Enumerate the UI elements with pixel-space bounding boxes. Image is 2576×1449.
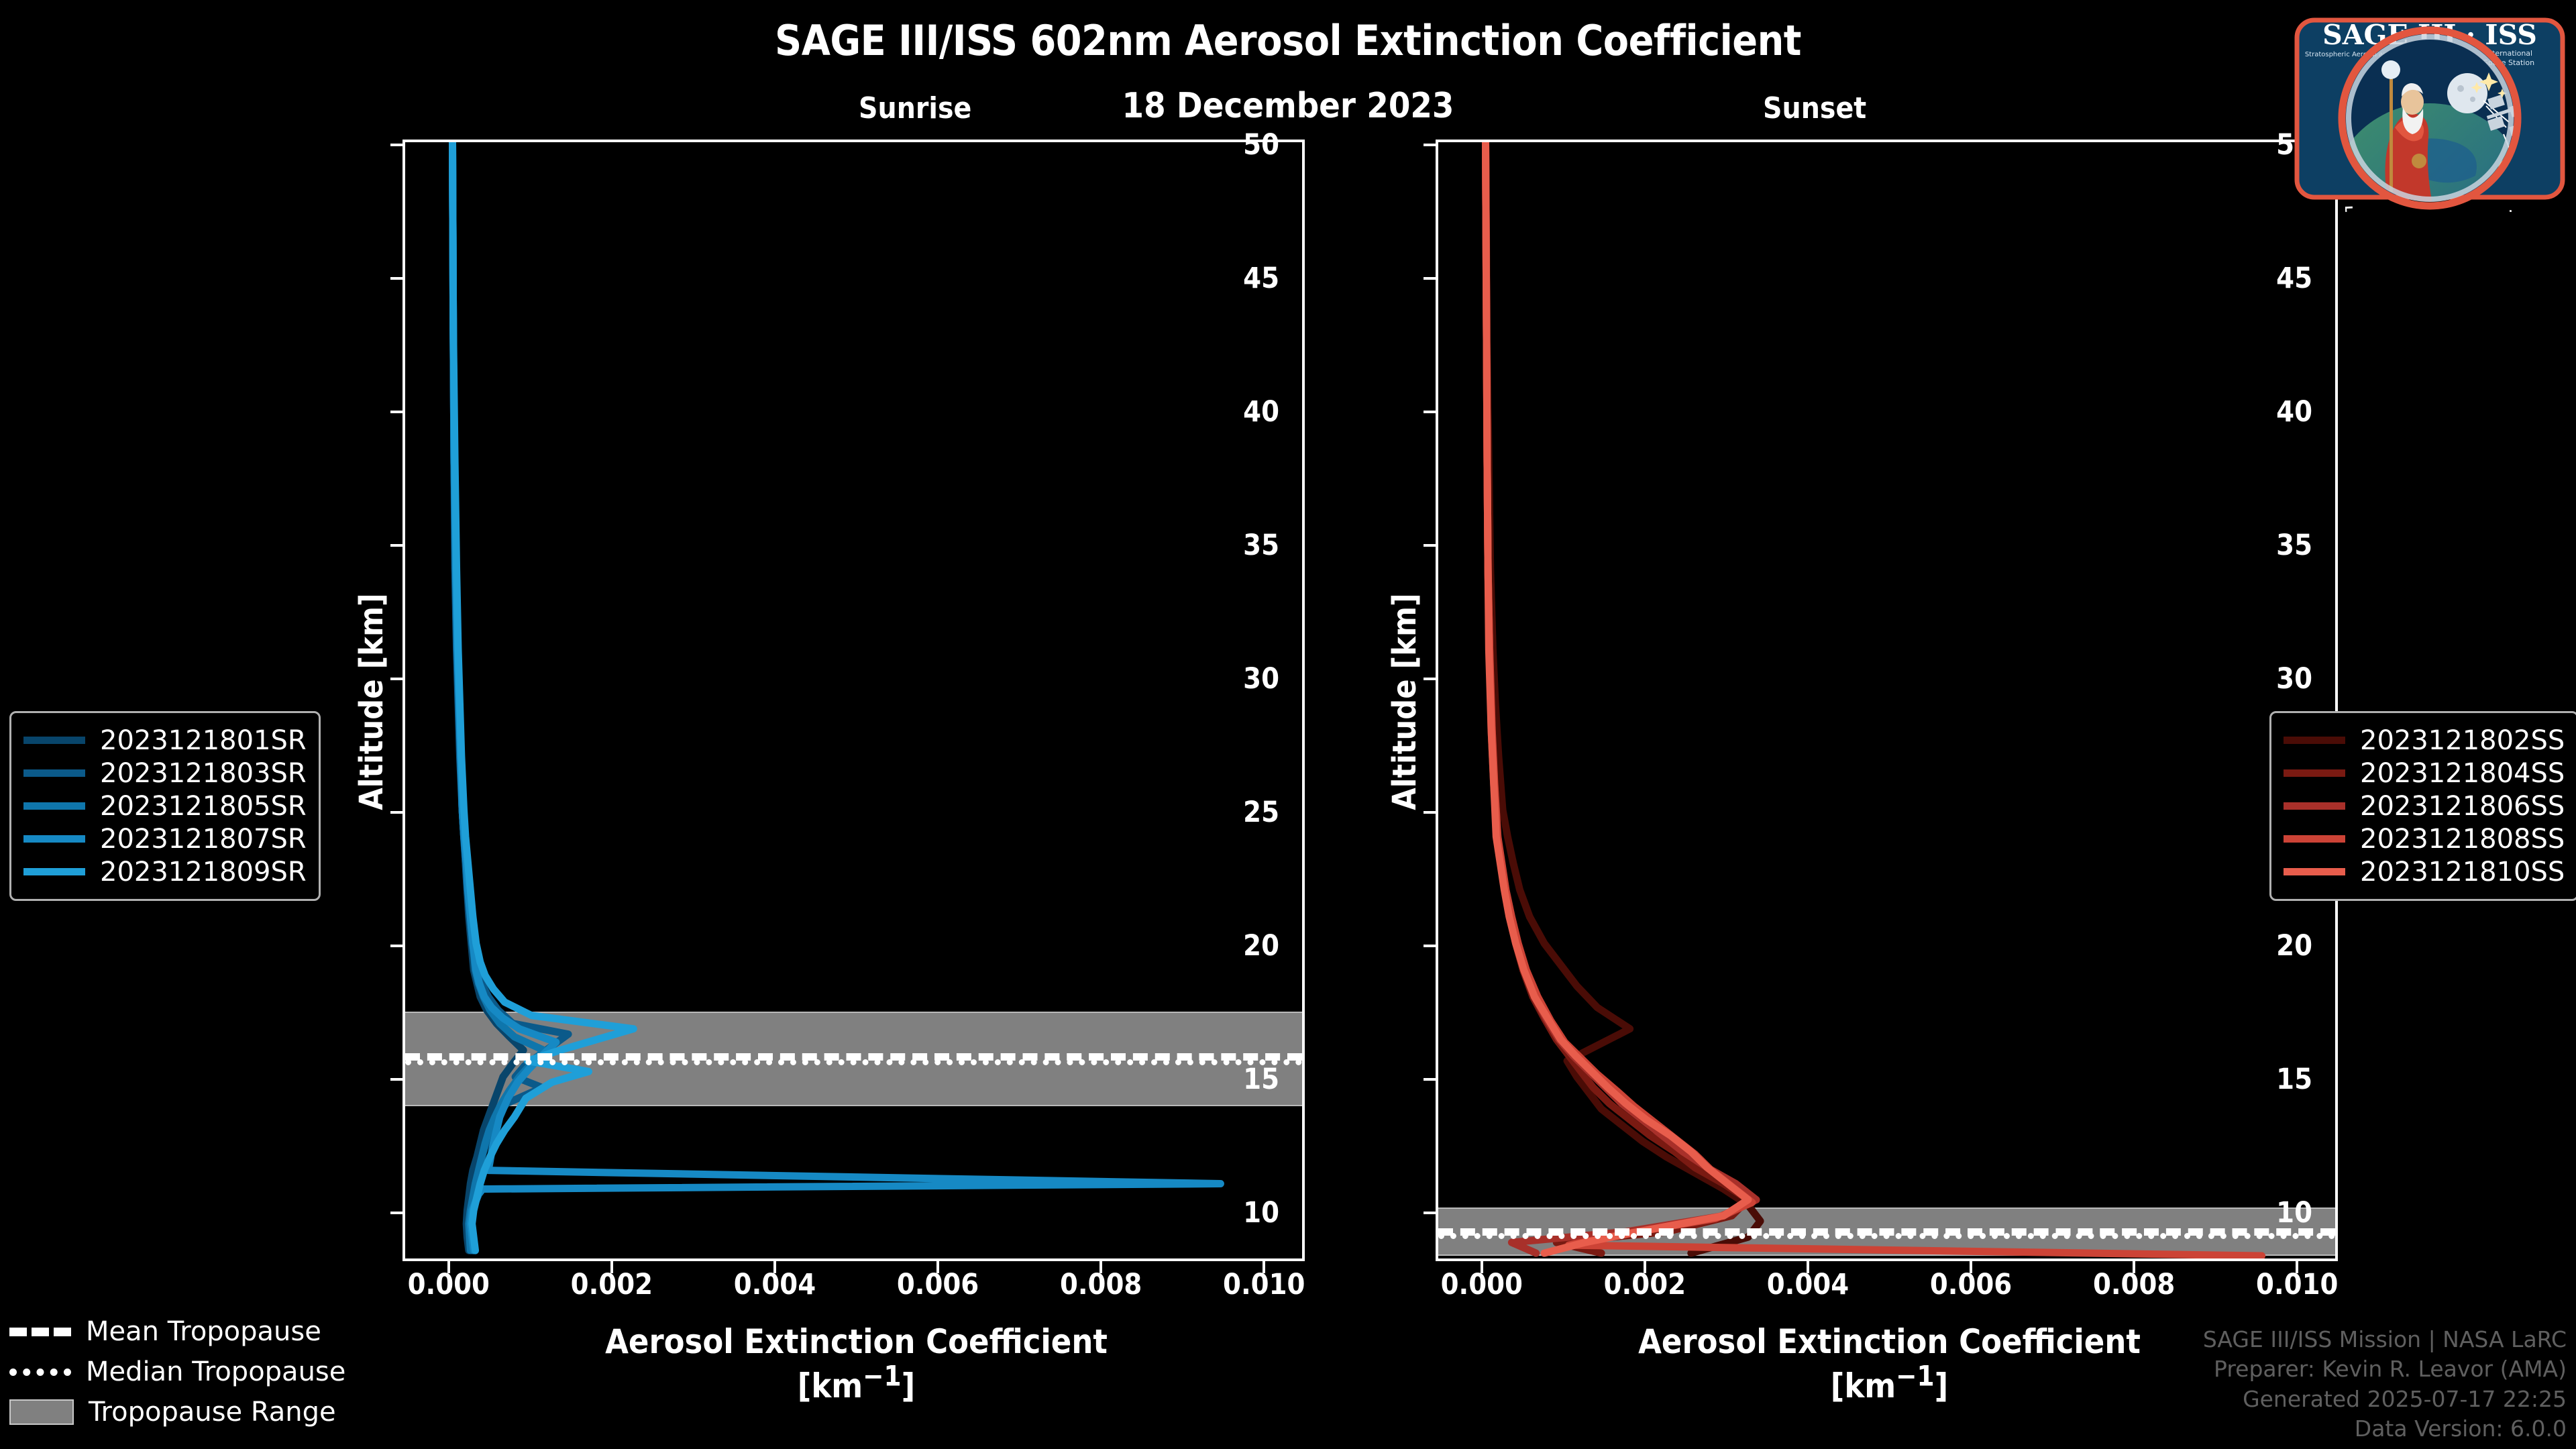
legend-item: 2023121801SR — [23, 724, 307, 757]
y-axis-tick-label: 15 — [1243, 1063, 1279, 1096]
sunrise-plot: 1015202530354045500.0000.0020.0040.0060.… — [402, 140, 1305, 1261]
legend-label: 2023121804SS — [2360, 758, 2565, 789]
legend-item: 2023121808SS — [2284, 822, 2565, 855]
legend-item: 2023121803SR — [23, 757, 307, 790]
x-axis-tick-label: 0.006 — [897, 1268, 979, 1301]
y-axis-tick — [1424, 144, 1438, 146]
y-axis-tick-label: 35 — [1243, 529, 1279, 562]
sage3-iss-mission-patch-logo: SAGE III · ISS Stratospheric Aerosol and… — [2288, 3, 2572, 215]
legend-tropopause: Mean Tropopause Median Tropopause Tropop… — [9, 1311, 345, 1432]
y-axis-tick — [390, 945, 405, 947]
y-axis-tick-label: 30 — [1243, 662, 1279, 696]
y-axis-tick-label: 50 — [1243, 128, 1279, 162]
x-axis-label-line2: [km−1] — [1831, 1366, 1948, 1405]
x-axis-tick-label: 0.004 — [734, 1268, 816, 1301]
y-axis-tick — [390, 544, 405, 547]
page-title: SAGE III/ISS 602nm Aerosol Extinction Co… — [0, 16, 2576, 65]
legend-item: 2023121810SS — [2284, 855, 2565, 888]
credit-line-generated: Generated 2025-07-17 22:25 — [2203, 1385, 2567, 1414]
y-axis-tick-label: 45 — [1243, 262, 1279, 295]
legend-label-mean: Mean Tropopause — [86, 1316, 321, 1347]
legend-sunset: 2023121802SS2023121804SS2023121806SS2023… — [2269, 711, 2576, 901]
x-axis-tick-label: 0.002 — [571, 1268, 653, 1301]
sunset-plot: 1015202530354045500.0000.0020.0040.0060.… — [1436, 140, 2338, 1261]
x-axis-tick-label: 0.010 — [1223, 1268, 1305, 1301]
legend-color-swatch — [2284, 802, 2345, 810]
x-axis-tick-label: 0.008 — [1060, 1268, 1142, 1301]
date-subtitle: 18 December 2023 — [0, 86, 2576, 126]
y-axis-label: Altitude [km] — [1386, 568, 1424, 836]
moon-icon — [2447, 73, 2487, 113]
x-axis-label-line1: Aerosol Extinction Coefficient — [1638, 1322, 2141, 1361]
legend-color-swatch — [2284, 868, 2345, 875]
sunset-plot-area — [1438, 142, 2335, 1258]
y-axis-tick — [1424, 1212, 1438, 1214]
credit-line-version: Data Version: 6.0.0 — [2203, 1414, 2567, 1444]
moon-crater-2 — [2470, 97, 2475, 102]
y-axis-tick — [1424, 1078, 1438, 1081]
x-axis-tick-label: 0.000 — [1441, 1268, 1523, 1301]
legend-label: 2023121801SR — [100, 725, 307, 756]
wizard-belt-buckle — [2412, 154, 2426, 168]
legend-item: 2023121804SS — [2284, 757, 2565, 790]
dotted-line-icon — [9, 1368, 71, 1376]
y-axis-tick — [390, 678, 405, 680]
credit-line-preparer: Preparer: Kevin R. Leavor (AMA) — [2203, 1354, 2567, 1384]
y-axis-tick — [390, 277, 405, 280]
x-axis-tick-label: 0.000 — [408, 1268, 490, 1301]
profile-line — [1486, 142, 1761, 1253]
x-axis-tick-label: 0.010 — [2256, 1268, 2338, 1301]
y-axis-tick — [1424, 811, 1438, 814]
profile-line — [453, 142, 1221, 1250]
legend-color-swatch — [23, 868, 85, 875]
median-tropopause-line — [405, 1059, 1302, 1065]
legend-item-mean-tropopause: Mean Tropopause — [9, 1311, 345, 1352]
credit-line-mission: SAGE III/ISS Mission | NASA LaRC — [2203, 1325, 2567, 1354]
legend-label-range: Tropopause Range — [89, 1397, 336, 1428]
legend-color-swatch — [2284, 769, 2345, 777]
y-axis-tick-label: 30 — [2276, 662, 2312, 696]
sunrise-panel-title: Sunrise — [859, 91, 971, 125]
legend-sunrise: 2023121801SR2023121803SR2023121805SR2023… — [9, 711, 321, 901]
y-axis-tick-label: 15 — [2276, 1063, 2312, 1096]
y-axis-tick — [1424, 678, 1438, 680]
y-axis-tick-label: 10 — [2276, 1196, 2312, 1230]
y-axis-tick — [390, 144, 405, 146]
legend-color-swatch — [23, 835, 85, 843]
y-axis-tick-label: 40 — [1243, 395, 1279, 429]
y-axis-tick — [390, 811, 405, 814]
y-axis-tick-label: 20 — [1243, 929, 1279, 963]
series-layer — [1438, 142, 2335, 1258]
y-axis-tick-label: 40 — [2276, 395, 2312, 429]
dashed-line-icon — [9, 1328, 71, 1336]
sunrise-plot-area — [405, 142, 1302, 1258]
legend-color-swatch — [23, 769, 85, 777]
legend-item: 2023121809SR — [23, 855, 307, 888]
legend-item: 2023121806SS — [2284, 790, 2565, 822]
credits: SAGE III/ISS Mission | NASA LaRC Prepare… — [2203, 1325, 2567, 1444]
legend-label: 2023121810SS — [2360, 857, 2565, 888]
y-axis-tick — [1424, 411, 1438, 413]
legend-item-median-tropopause: Median Tropopause — [9, 1352, 345, 1392]
x-axis-tick-label: 0.008 — [2093, 1268, 2175, 1301]
y-axis-tick — [390, 411, 405, 413]
legend-label: 2023121806SS — [2360, 791, 2565, 822]
legend-color-swatch — [2284, 737, 2345, 744]
y-axis-tick-label: 25 — [1243, 796, 1279, 829]
legend-item: 2023121807SR — [23, 822, 307, 855]
x-axis-label-line1: Aerosol Extinction Coefficient — [605, 1322, 1108, 1361]
staff-orb — [2381, 60, 2400, 79]
legend-item: 2023121802SS — [2284, 724, 2565, 757]
legend-label: 2023121802SS — [2360, 725, 2565, 756]
profile-line — [1486, 142, 1757, 1253]
y-axis-tick — [1424, 277, 1438, 280]
median-tropopause-line — [1438, 1233, 2335, 1239]
x-axis-label: Aerosol Extinction Coefficient[km−1] — [405, 1323, 1307, 1405]
y-axis-label: Altitude [km] — [353, 568, 390, 836]
y-axis-tick-label: 35 — [2276, 529, 2312, 562]
legend-label: 2023121803SR — [100, 758, 307, 789]
legend-item-tropopause-range: Tropopause Range — [9, 1392, 345, 1432]
x-axis-tick-label: 0.006 — [1930, 1268, 2012, 1301]
y-axis-tick — [390, 1212, 405, 1214]
legend-label: 2023121805SR — [100, 791, 307, 822]
legend-label-median: Median Tropopause — [86, 1356, 345, 1387]
legend-color-swatch — [23, 802, 85, 810]
x-axis-label-line2: [km−1] — [798, 1366, 915, 1405]
sunset-panel-title: Sunset — [1763, 91, 1866, 125]
legend-label: 2023121807SR — [100, 824, 307, 855]
moon-crater — [2457, 85, 2464, 92]
y-axis-tick — [1424, 544, 1438, 547]
legend-item: 2023121805SR — [23, 790, 307, 822]
legend-label: 2023121809SR — [100, 857, 307, 888]
y-axis-tick-label: 10 — [1243, 1196, 1279, 1230]
series-layer — [405, 142, 1302, 1258]
profile-line — [453, 142, 634, 1250]
wizard-staff — [2390, 72, 2393, 192]
y-axis-tick-label: 45 — [2276, 262, 2312, 295]
y-axis-tick-label: 20 — [2276, 929, 2312, 963]
x-axis-tick-label: 0.004 — [1767, 1268, 1849, 1301]
legend-label: 2023121808SS — [2360, 824, 2565, 855]
legend-color-swatch — [2284, 835, 2345, 843]
y-axis-tick — [1424, 945, 1438, 947]
y-axis-tick — [390, 1078, 405, 1081]
band-swatch-icon — [9, 1399, 74, 1425]
x-axis-tick-label: 0.002 — [1604, 1268, 1686, 1301]
legend-color-swatch — [23, 737, 85, 744]
